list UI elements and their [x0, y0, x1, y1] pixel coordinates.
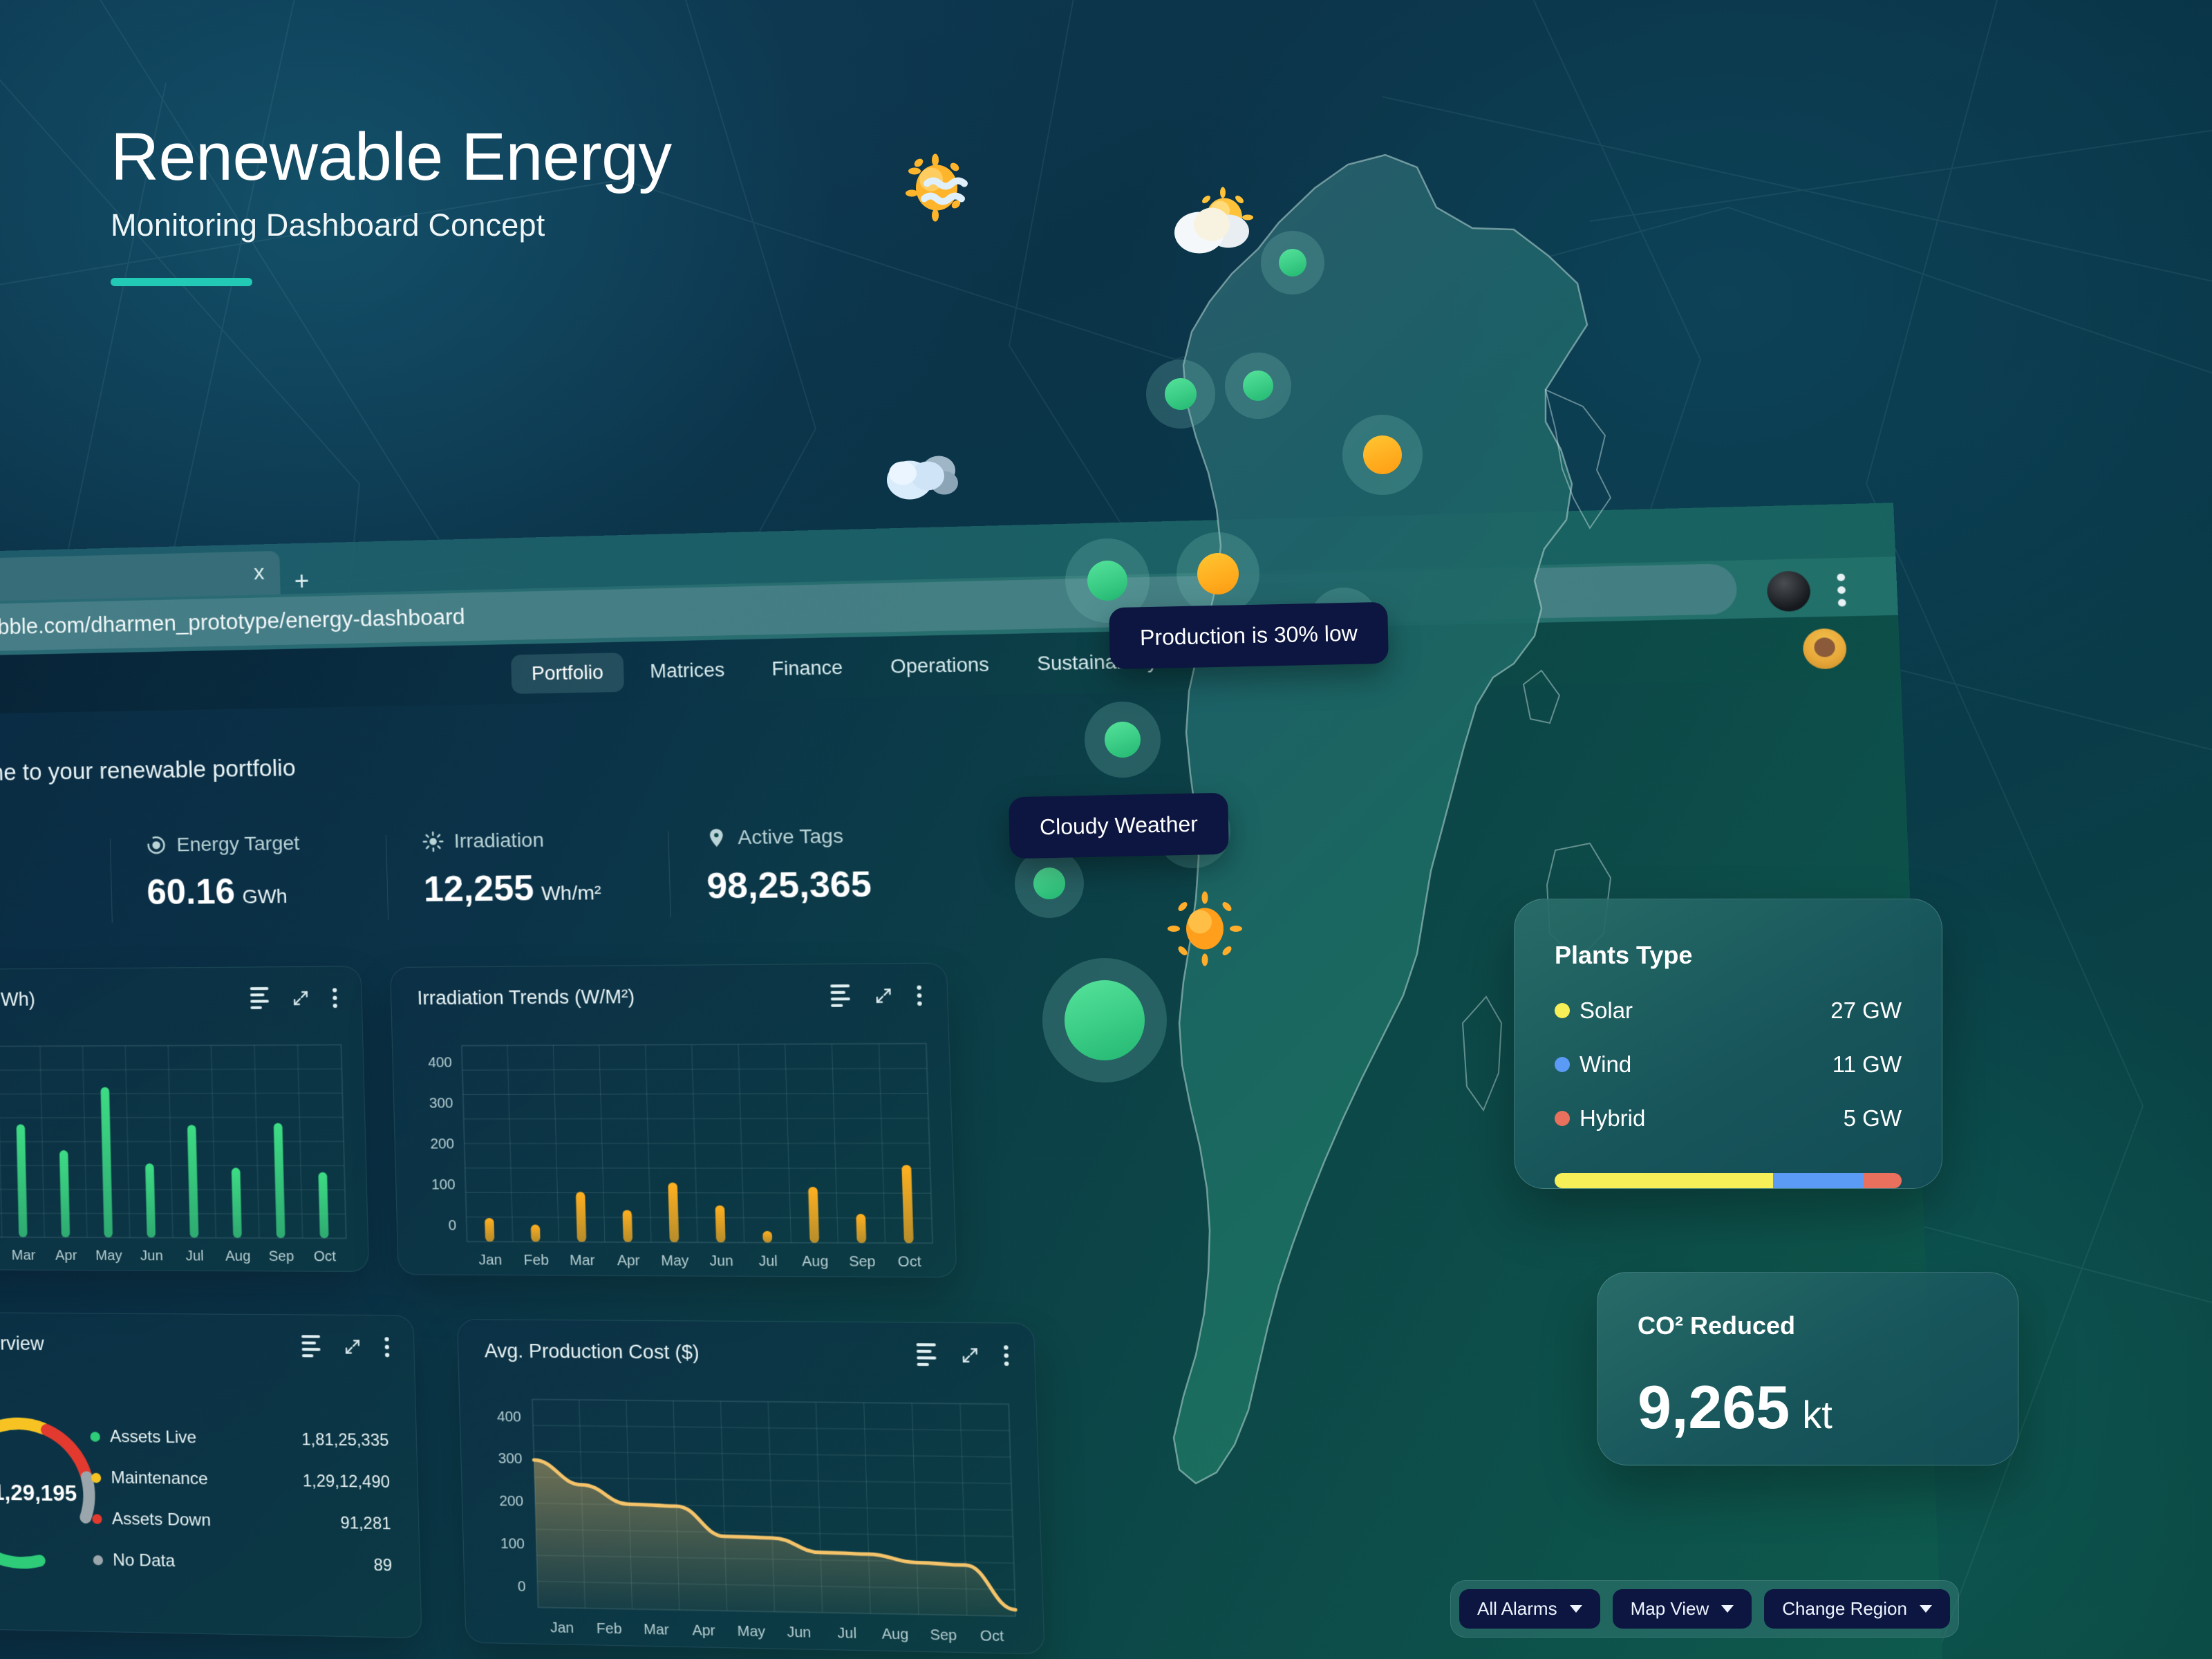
- legend-value: 91,281: [340, 1513, 391, 1533]
- kpi-irradiation-label: Irradiation: [453, 829, 544, 853]
- tab-matrices[interactable]: Matrices: [629, 650, 746, 691]
- legend-value: 89: [373, 1555, 392, 1575]
- cloud-icon: [885, 446, 961, 509]
- svg-text:Sep: Sep: [849, 1254, 876, 1270]
- plants-type-row-solar: Solar 27 GW: [1555, 997, 1902, 1024]
- svg-text:Feb: Feb: [523, 1253, 549, 1268]
- legend-dot-solar: [1555, 1003, 1570, 1018]
- legend-label: Assets Down: [112, 1509, 212, 1530]
- svg-text:Apr: Apr: [55, 1248, 77, 1264]
- kpi-energy-target: Energy Target 60.16GWh: [111, 831, 388, 913]
- svg-text:Sep: Sep: [930, 1627, 957, 1644]
- svg-text:300: 300: [429, 1096, 453, 1112]
- close-icon[interactable]: x: [254, 563, 265, 584]
- co2-unit: kt: [1802, 1393, 1833, 1436]
- svg-text:Aug: Aug: [802, 1254, 829, 1270]
- svg-text:400: 400: [428, 1055, 452, 1071]
- production-trend-plot: 0JanFebMarAprMayJunJulAugSepOct: [0, 1032, 368, 1271]
- more-options-icon[interactable]: [917, 985, 921, 1005]
- card-plants-type: Plants Type Solar 27 GW Wind 11 GW Hybri…: [1514, 899, 1942, 1189]
- page-subtitle: Monitoring Dashboard Concept: [111, 207, 672, 243]
- card-production-trend: ion Trend (GWh) 0JanFebMarAprMayJunJulAu…: [0, 966, 369, 1272]
- map-marker-orange[interactable]: [1342, 415, 1423, 495]
- change-region-label: Change Region: [1782, 1598, 1907, 1620]
- svg-text:Oct: Oct: [314, 1249, 337, 1265]
- svg-text:Mar: Mar: [11, 1248, 36, 1264]
- card-production-trend-title: ion Trend (GWh): [0, 988, 35, 1011]
- list-view-icon[interactable]: [830, 984, 850, 1007]
- svg-text:200: 200: [499, 1493, 524, 1510]
- all-alarms-label: All Alarms: [1477, 1598, 1557, 1620]
- svg-text:0: 0: [518, 1579, 526, 1595]
- legend-item-no-data: No Data 89: [93, 1550, 392, 1575]
- card-avg-cost-title: Avg. Production Cost ($): [484, 1340, 699, 1364]
- svg-text:400: 400: [497, 1409, 522, 1425]
- kpi-active-tags-unit: [879, 879, 879, 901]
- svg-text:May: May: [661, 1253, 689, 1269]
- svg-text:Jun: Jun: [787, 1624, 811, 1641]
- expand-icon[interactable]: [960, 1345, 980, 1365]
- list-view-icon[interactable]: [917, 1343, 937, 1366]
- url-text: ps://dribbble.com/dharmen_prototype/ener…: [0, 604, 465, 641]
- svg-text:Oct: Oct: [980, 1628, 1004, 1644]
- svg-text:Jun: Jun: [140, 1248, 163, 1264]
- map-marker-green[interactable]: [1085, 702, 1161, 778]
- avg-production-cost-plot: 4003002001000JanFebMarAprMayJunJulAugSep…: [460, 1386, 1044, 1654]
- svg-text:May: May: [95, 1248, 122, 1264]
- target-icon: [145, 834, 167, 856]
- plants-type-label: Hybrid: [1580, 1105, 1645, 1132]
- co2-value: 9,265: [1638, 1373, 1790, 1441]
- svg-text:Jan: Jan: [478, 1253, 502, 1268]
- card-assets-overview: Assets Overview: [0, 1311, 422, 1638]
- card-co2-reduced: CO² Reduced 9,265kt: [1597, 1272, 2018, 1465]
- legend-dot-hybrid: [1555, 1111, 1570, 1126]
- tag-icon: [705, 827, 728, 849]
- card-irradiation-trends: Irradiation Trends (W/M²) 4003002001000J…: [390, 963, 957, 1278]
- legend-label: Maintenance: [111, 1468, 208, 1490]
- user-avatar[interactable]: [1802, 628, 1847, 670]
- expand-icon[interactable]: [343, 1337, 362, 1356]
- chevron-down-icon: [1920, 1605, 1932, 1613]
- plants-type-bar-segment: [1555, 1173, 1773, 1188]
- svg-text:300: 300: [498, 1451, 523, 1467]
- svg-text:Jul: Jul: [837, 1625, 856, 1642]
- legend-item-assets-down: Assets Down 91,281: [92, 1509, 391, 1533]
- plants-type-label: Wind: [1580, 1051, 1631, 1078]
- browser-menu-icon[interactable]: [1837, 574, 1846, 607]
- svg-text:Jul: Jul: [758, 1253, 778, 1269]
- profile-avatar[interactable]: [1766, 571, 1811, 612]
- new-tab-icon[interactable]: +: [294, 568, 309, 594]
- svg-text:Apr: Apr: [692, 1622, 715, 1639]
- map-marker-green[interactable]: [1015, 849, 1084, 918]
- plants-type-value: 27 GW: [1830, 997, 1902, 1024]
- more-options-icon[interactable]: [384, 1337, 389, 1357]
- chevron-down-icon: [1721, 1605, 1734, 1613]
- browser-chrome-icons: [1766, 570, 1846, 612]
- svg-text:Aug: Aug: [881, 1627, 908, 1643]
- map-marker-green[interactable]: [1261, 231, 1324, 294]
- kpi-row: roduction GWh Energy Target 60.16GWh: [0, 824, 924, 942]
- sun-icon: [422, 831, 444, 852]
- welcome-text: Welcome to your renewable portfolio: [0, 754, 296, 787]
- plants-type-value: 5 GW: [1844, 1105, 1902, 1132]
- legend-label: Assets Live: [110, 1427, 197, 1447]
- expand-icon[interactable]: [874, 986, 894, 1004]
- svg-text:Jul: Jul: [185, 1248, 204, 1264]
- map-marker-green[interactable]: [1225, 353, 1291, 419]
- legend-dot-green: [90, 1432, 100, 1442]
- more-options-icon[interactable]: [332, 988, 337, 1008]
- co2-title: CO² Reduced: [1638, 1311, 1978, 1340]
- map-tooltip-weather[interactable]: Cloudy Weather: [1009, 793, 1229, 859]
- legend-value: 1,81,25,335: [301, 1430, 389, 1450]
- svg-text:Jan: Jan: [550, 1620, 574, 1636]
- expand-icon[interactable]: [291, 988, 310, 1007]
- svg-text:200: 200: [430, 1136, 454, 1152]
- svg-text:Aug: Aug: [225, 1248, 251, 1264]
- plants-type-value: 11 GW: [1833, 1051, 1902, 1078]
- hero-title-block: Renewable Energy Monitoring Dashboard Co…: [111, 121, 672, 286]
- plants-type-bar-segment: [1864, 1173, 1902, 1188]
- irradiation-trends-plot: 4003002001000JanFebMarAprMayJunJulAugSep…: [393, 1031, 957, 1277]
- kpi-active-tags-value: 98,25,365: [706, 864, 872, 906]
- legend-dot-grey: [93, 1555, 104, 1566]
- legend-item-maintenance: Maintenance 1,29,12,490: [91, 1468, 391, 1492]
- map-marker-green-large[interactable]: [1042, 958, 1167, 1082]
- svg-text:100: 100: [431, 1177, 456, 1193]
- svg-text:Oct: Oct: [897, 1254, 921, 1270]
- map-marker-orange[interactable]: [1177, 532, 1259, 615]
- legend-value: 1,29,12,490: [303, 1471, 391, 1492]
- legend-dot-yellow: [91, 1473, 102, 1483]
- legend-dot-red: [92, 1514, 102, 1524]
- legend-label: No Data: [113, 1550, 176, 1571]
- sun-behind-mist-icon: [902, 148, 992, 234]
- kpi-energy-target-label: Energy Target: [176, 832, 299, 856]
- map-marker-green[interactable]: [1146, 359, 1215, 429]
- card-irradiation-title: Irradiation Trends (W/M²): [417, 986, 635, 1009]
- svg-text:Apr: Apr: [617, 1253, 640, 1268]
- plants-type-stacked-bar: [1555, 1173, 1902, 1188]
- kpi-irradiation: Irradiation 12,255Wh/m²: [386, 827, 671, 910]
- svg-text:Jun: Jun: [709, 1253, 733, 1269]
- legend-item-assets-live: Assets Live 1,81,25,335: [90, 1427, 388, 1450]
- kpi-active-tags: Active Tags 98,25,365: [668, 823, 937, 907]
- list-view-icon[interactable]: [250, 987, 269, 1009]
- svg-text:Feb: Feb: [597, 1621, 622, 1638]
- plants-type-bar-segment: [1773, 1173, 1864, 1188]
- card-avg-production-cost: Avg. Production Cost ($) 4003002001000Ja…: [457, 1319, 1045, 1654]
- page-title: Renewable Energy: [111, 121, 672, 194]
- assets-total-value: 3,11,29,195: [0, 1479, 104, 1507]
- plants-type-title: Plants Type: [1555, 941, 1902, 970]
- svg-text:May: May: [737, 1624, 765, 1640]
- plants-type-row-hybrid: Hybrid 5 GW: [1555, 1105, 1902, 1132]
- svg-text:100: 100: [500, 1536, 525, 1553]
- kpi-production: roduction GWh: [0, 834, 113, 915]
- plants-type-row-wind: Wind 11 GW: [1555, 1051, 1902, 1078]
- kpi-energy-target-unit: GWh: [242, 885, 288, 907]
- accent-rule: [111, 278, 252, 286]
- change-region-dropdown[interactable]: Change Region: [1764, 1589, 1950, 1629]
- kpi-irradiation-value: 12,255: [423, 868, 534, 909]
- svg-text:0: 0: [448, 1218, 456, 1234]
- svg-text:Sep: Sep: [268, 1248, 294, 1264]
- sun-icon: [1167, 891, 1243, 971]
- map-view-label: Map View: [1631, 1598, 1709, 1620]
- legend-dot-wind: [1555, 1057, 1570, 1072]
- map-view-dropdown[interactable]: Map View: [1613, 1589, 1752, 1629]
- map-tooltip-production[interactable]: Production is 30% low: [1109, 602, 1389, 669]
- card-assets-title: Assets Overview: [0, 1332, 44, 1355]
- tab-portfolio[interactable]: Portfolio: [511, 653, 624, 694]
- chevron-down-icon: [1570, 1605, 1582, 1613]
- list-view-icon[interactable]: [301, 1335, 321, 1357]
- sun-behind-cloud-icon: [1169, 182, 1259, 261]
- kpi-energy-target-value: 60.16: [147, 872, 236, 912]
- assets-legend: Assets Live 1,81,25,335 Maintenance 1,29…: [90, 1427, 393, 1597]
- kpi-irradiation-unit: Wh/m²: [541, 881, 602, 904]
- svg-text:Mar: Mar: [570, 1253, 595, 1268]
- kpi-active-tags-label: Active Tags: [738, 825, 844, 849]
- all-alarms-dropdown[interactable]: All Alarms: [1459, 1589, 1600, 1629]
- svg-text:Mar: Mar: [644, 1622, 670, 1638]
- tab-finance[interactable]: Finance: [751, 647, 864, 688]
- map-controls-bar: All Alarms Map View Change Region: [1450, 1580, 1959, 1638]
- plants-type-label: Solar: [1580, 997, 1633, 1024]
